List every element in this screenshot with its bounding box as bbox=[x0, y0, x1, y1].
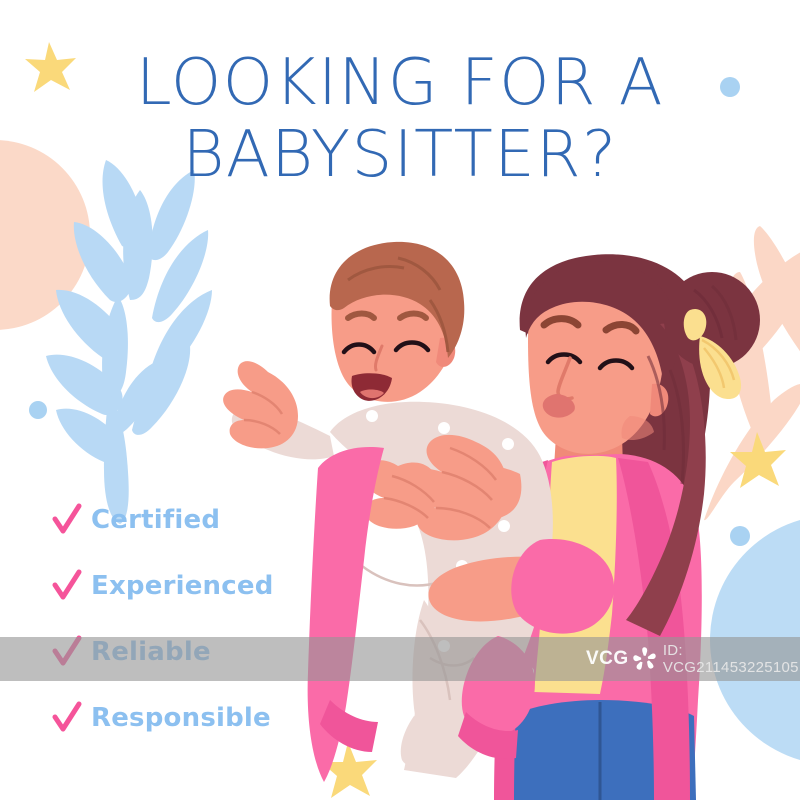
check-icon bbox=[52, 569, 82, 603]
list-item-label: Certified bbox=[91, 505, 220, 535]
baby-hand-left bbox=[223, 361, 298, 448]
list-item-label: Experienced bbox=[91, 571, 274, 601]
check-icon bbox=[52, 701, 82, 735]
poster-canvas: LOOKING FOR A BABYSITTER? bbox=[0, 0, 800, 800]
list-item: Experienced bbox=[52, 558, 274, 614]
watermark-bar bbox=[0, 637, 800, 681]
feature-checklist: Certified Experienced Reliable Responsib… bbox=[52, 492, 274, 756]
list-item: Responsible bbox=[52, 690, 274, 746]
check-icon bbox=[52, 503, 82, 537]
list-item-label: Responsible bbox=[91, 703, 271, 733]
list-item: Certified bbox=[52, 492, 274, 548]
